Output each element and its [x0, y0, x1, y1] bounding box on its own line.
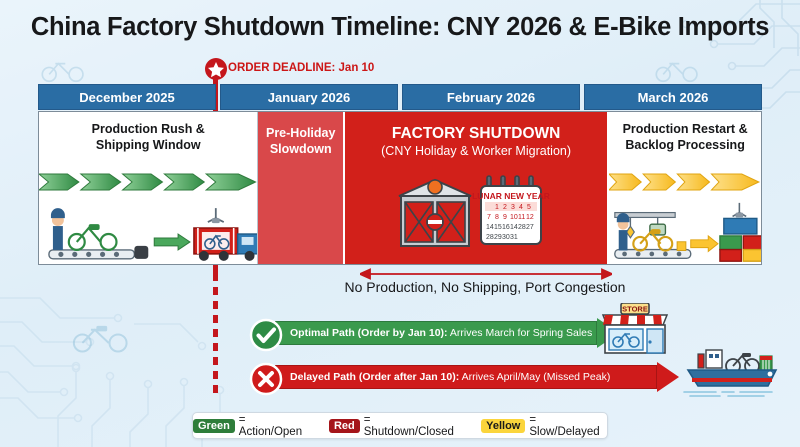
panel-march-title-line2: Backlog Processing — [625, 138, 745, 152]
panel-december-title-line2: Shipping Window — [96, 138, 201, 152]
panel-pre-holiday-title: Pre-Holiday Slowdown — [258, 126, 342, 157]
panel-december-title-line1: Production Rush & — [92, 122, 205, 136]
cargo-ship-icon — [676, 346, 784, 398]
congestion-label: No Production, No Shipping, Port Congest… — [250, 279, 720, 295]
delayed-path-text: Delayed Path (Order after Jan 10): Arriv… — [290, 371, 610, 383]
svg-text:29: 29 — [494, 234, 502, 241]
optimal-path-bar: Optimal Path (Order by Jan 10): Arrives … — [275, 321, 619, 345]
deadline-vertical-line-dashed — [213, 273, 218, 393]
timeline-panels: Production Rush & Shipping Window — [38, 111, 762, 265]
panel-march-title-line1: Production Restart & — [623, 122, 748, 136]
svg-text:1: 1 — [495, 204, 499, 211]
svg-text:15: 15 — [494, 224, 502, 231]
bicycle-watermark-icon — [70, 318, 132, 354]
legend-chip-red: Red — [329, 419, 360, 433]
order-deadline-label: ORDER DEADLINE: Jan 10 — [228, 62, 374, 74]
bicycle-watermark-icon — [40, 55, 86, 83]
svg-text:27: 27 — [526, 224, 534, 231]
delayed-path-rest: Arrives April/May (Missed Peak) — [459, 371, 610, 383]
panel-pre-holiday-slowdown[interactable]: Pre-Holiday Slowdown — [258, 112, 342, 264]
check-circle-icon[interactable] — [249, 318, 283, 352]
legend-chip-green: Green — [193, 419, 235, 433]
panel-march-restart[interactable]: Production Restart & Backlog Processing — [607, 112, 761, 264]
month-december[interactable]: December 2025 — [38, 84, 216, 110]
month-january[interactable]: January 2026 — [220, 84, 398, 110]
optimal-path-rest: Arrives March for Spring Sales — [448, 327, 593, 339]
legend-item-yellow: Yellow = Slow/Delayed — [481, 414, 607, 438]
svg-text:2: 2 — [503, 204, 507, 211]
svg-text:5: 5 — [527, 204, 531, 211]
svg-text:14: 14 — [486, 224, 494, 231]
panel-pre-holiday-title-line1: Pre-Holiday — [266, 126, 335, 140]
yellow-progress-arrows-icon — [609, 167, 761, 197]
legend-item-green: Green = Action/Open — [193, 414, 309, 438]
svg-text:9: 9 — [503, 214, 507, 221]
svg-text:3: 3 — [511, 204, 515, 211]
panel-shutdown-title: FACTORY SHUTDOWN — [345, 124, 607, 143]
legend-text-red: = Shutdown/Closed — [364, 414, 461, 438]
storefront-icon: STORE — [599, 303, 671, 355]
svg-text:28: 28 — [486, 234, 494, 241]
optimal-path-bold: Optimal Path (Order by Jan 10): — [290, 327, 448, 339]
svg-text:11: 11 — [518, 214, 525, 221]
page-title: China Factory Shutdown Timeline: CNY 202… — [0, 13, 800, 42]
panel-pre-holiday-title-line2: Slowdown — [270, 142, 332, 156]
december-scene-icon — [43, 204, 258, 264]
svg-text:16: 16 — [502, 224, 510, 231]
svg-text:14: 14 — [510, 224, 518, 231]
panel-march-title: Production Restart & Backlog Processing — [609, 122, 761, 153]
panel-december-title: Production Rush & Shipping Window — [39, 122, 257, 153]
optimal-path-bar-body: Optimal Path (Order by Jan 10): Arrives … — [275, 321, 597, 345]
svg-text:30: 30 — [502, 234, 510, 241]
month-march[interactable]: March 2026 — [584, 84, 762, 110]
svg-text:LUNAR NEW YEAR: LUNAR NEW YEAR — [472, 191, 550, 201]
delayed-path-bar-body: Delayed Path (Order after Jan 10): Arriv… — [275, 365, 657, 389]
infographic-canvas: China Factory Shutdown Timeline: CNY 202… — [0, 0, 800, 447]
panel-shutdown-subtitle: (CNY Holiday & Worker Migration) — [345, 144, 607, 158]
legend-chip-yellow: Yellow — [481, 419, 525, 433]
svg-text:12: 12 — [526, 214, 534, 221]
delayed-path-bar: Delayed Path (Order after Jan 10): Arriv… — [275, 365, 679, 389]
svg-text:31: 31 — [510, 234, 518, 241]
optimal-path-text: Optimal Path (Order by Jan 10): Arrives … — [290, 327, 592, 339]
x-circle-icon[interactable] — [249, 362, 283, 396]
green-progress-arrows-icon — [39, 167, 257, 197]
legend-text-yellow: = Slow/Delayed — [529, 414, 607, 438]
month-february[interactable]: February 2026 — [402, 84, 580, 110]
bicycle-watermark-icon — [654, 55, 700, 83]
legend-item-red: Red = Shutdown/Closed — [329, 414, 461, 438]
store-sign-label: STORE — [622, 305, 648, 314]
svg-text:10: 10 — [510, 214, 518, 221]
panel-factory-shutdown[interactable]: FACTORY SHUTDOWN (CNY Holiday & Worker M… — [343, 112, 607, 264]
svg-text:7: 7 — [487, 214, 491, 221]
march-scene-icon — [609, 202, 761, 264]
svg-text:28: 28 — [518, 224, 526, 231]
timeline-month-header: December 2025 January 2026 February 2026… — [38, 84, 762, 110]
svg-text:4: 4 — [519, 204, 523, 211]
svg-text:8: 8 — [495, 214, 499, 221]
panel-december-production[interactable]: Production Rush & Shipping Window — [39, 112, 258, 264]
legend-text-green: = Action/Open — [239, 414, 309, 438]
shutdown-scene-icon: LUNAR NEW YEAR 12345 789101112 141516142… — [391, 174, 561, 254]
delayed-path-bold: Delayed Path (Order after Jan 10): — [290, 371, 459, 383]
legend: Green = Action/Open Red = Shutdown/Close… — [192, 412, 608, 439]
